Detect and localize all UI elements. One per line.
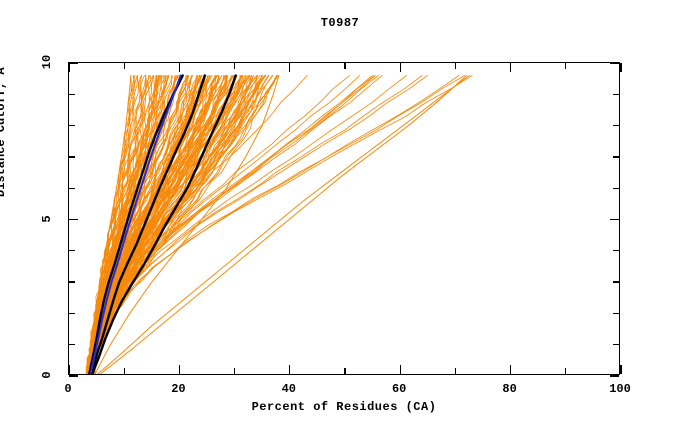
tick-mark (69, 375, 78, 376)
tick-mark (69, 281, 75, 282)
tick-mark (613, 250, 619, 251)
tick-mark (234, 63, 235, 69)
tick-mark (69, 219, 78, 220)
tick-mark (344, 368, 345, 374)
plot-canvas (69, 63, 619, 374)
tick-mark (613, 125, 619, 126)
chart-figure: T0987 0510020406080100 Distance Cutoff, … (0, 0, 680, 440)
y-axis-title: Distance Cutoff, A (0, 17, 8, 197)
tick-mark (69, 125, 75, 126)
chart-title: T0987 (0, 16, 680, 30)
curve-bundle (69, 63, 619, 374)
x-tick-label: 60 (379, 382, 419, 396)
x-tick-label: 100 (600, 382, 640, 396)
tick-mark (455, 63, 456, 69)
tick-mark (124, 63, 125, 69)
tick-mark (68, 63, 69, 72)
tick-mark (620, 365, 621, 374)
tick-mark (69, 250, 75, 251)
tick-mark (344, 63, 345, 69)
tick-mark (565, 368, 566, 374)
tick-mark (69, 344, 75, 345)
y-tick-label: 5 (40, 206, 54, 232)
tick-mark (69, 188, 75, 189)
tick-mark (613, 156, 619, 157)
x-tick-label: 80 (490, 382, 530, 396)
x-tick-label: 40 (269, 382, 309, 396)
tick-mark (610, 219, 619, 220)
tick-mark (234, 368, 235, 374)
x-tick-label: 20 (158, 382, 198, 396)
tick-mark (69, 156, 75, 157)
tick-mark (179, 365, 180, 374)
tick-mark (620, 63, 621, 72)
tick-mark (613, 94, 619, 95)
tick-mark (400, 63, 401, 72)
y-axis-title-box: Distance Cutoff, A (8, 62, 32, 375)
tick-mark (510, 365, 511, 374)
tick-mark (613, 188, 619, 189)
tick-mark (613, 313, 619, 314)
tick-mark (69, 62, 78, 63)
tick-mark (400, 365, 401, 374)
x-axis-title: Percent of Residues (CA) (68, 400, 620, 414)
tick-mark (613, 344, 619, 345)
tick-mark (289, 63, 290, 72)
tick-mark (124, 368, 125, 374)
tick-mark (289, 365, 290, 374)
tick-mark (613, 281, 619, 282)
tick-mark (455, 368, 456, 374)
tick-mark (565, 63, 566, 69)
x-tick-label: 0 (48, 382, 88, 396)
tick-mark (179, 63, 180, 72)
plot-area (68, 62, 620, 375)
y-tick-label: 10 (40, 49, 54, 75)
tick-mark (69, 313, 75, 314)
tick-mark (69, 94, 75, 95)
tick-mark (68, 365, 69, 374)
tick-mark (610, 375, 619, 376)
tick-mark (610, 62, 619, 63)
tick-mark (510, 63, 511, 72)
